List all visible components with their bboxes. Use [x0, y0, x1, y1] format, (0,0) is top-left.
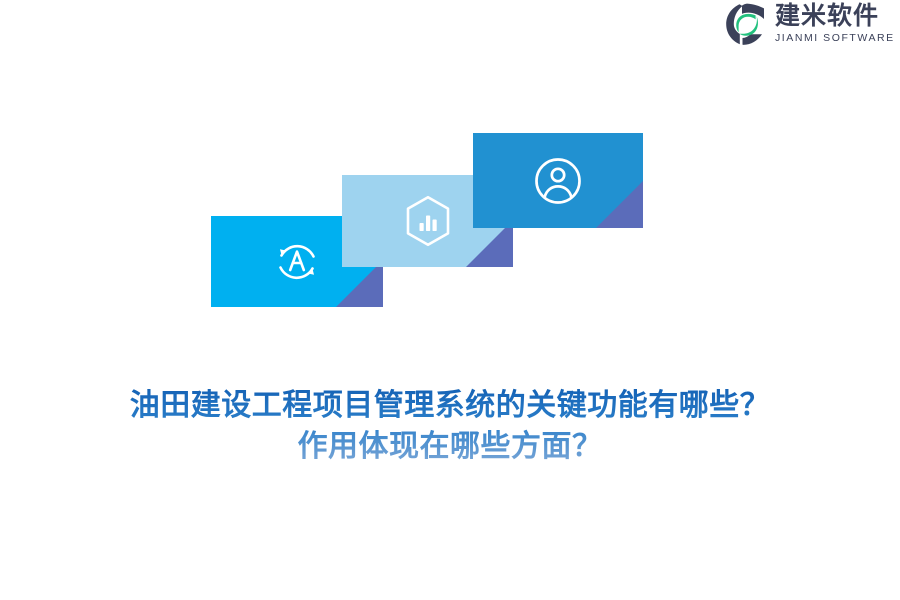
- circular-arrow-letter-a-icon: [271, 236, 323, 288]
- page-title-line-2: 作用体现在哪些方面？: [0, 426, 900, 467]
- page-title-line-1: 油田建设工程项目管理系统的关键功能有哪些？: [0, 385, 900, 426]
- hero-illustration: [0, 0, 900, 360]
- hero-card-user: [473, 133, 643, 228]
- hero-card-tail: [596, 181, 643, 228]
- page-title: 油田建设工程项目管理系统的关键功能有哪些？ 作用体现在哪些方面？: [0, 385, 900, 467]
- hexagon-bar-chart-icon: [403, 194, 453, 248]
- hero-card-tail: [336, 260, 383, 307]
- user-avatar-circle-icon: [532, 155, 584, 207]
